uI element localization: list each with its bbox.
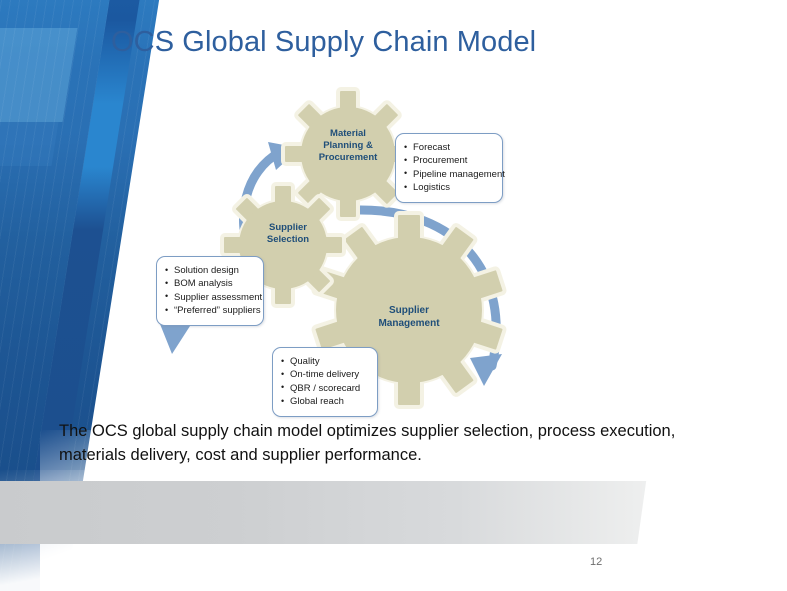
callout-item: Pipeline management xyxy=(404,168,493,181)
callout-list: Solution design BOM analysis Supplier as… xyxy=(165,264,254,318)
slide-caption: The OCS global supply chain model optimi… xyxy=(59,419,679,468)
footer-right-wedge xyxy=(628,440,787,591)
callout-item: Supplier assessment xyxy=(165,291,254,304)
deco-light-block-upper xyxy=(0,28,77,122)
callout-list: Quality On-time delivery QBR / scorecard… xyxy=(281,355,368,409)
deco-light-block-lower xyxy=(0,122,58,166)
callout-item: Solution design xyxy=(165,264,254,277)
gear-label-supplier-selection: Supplier Selection xyxy=(243,222,333,246)
callout-list: Forecast Procurement Pipeline management… xyxy=(404,141,493,195)
page-number: 12 xyxy=(590,556,602,568)
callout-supplier-management: Quality On-time delivery QBR / scorecard… xyxy=(272,347,378,417)
callout-item: Global reach xyxy=(281,395,368,408)
callout-item: Procurement xyxy=(404,154,493,167)
callout-item: BOM analysis xyxy=(165,277,254,290)
callout-item: Quality xyxy=(281,355,368,368)
callout-material-planning: Forecast Procurement Pipeline management… xyxy=(395,133,503,203)
gear-label-supplier-management: Supplier Management xyxy=(355,305,463,330)
callout-item: “Preferred” suppliers xyxy=(165,304,254,317)
callout-item: QBR / scorecard xyxy=(281,382,368,395)
callout-item: Forecast xyxy=(404,141,493,154)
callout-item: Logistics xyxy=(404,181,493,194)
gear-label-material-planning: Material Planning & Procurement xyxy=(300,128,396,164)
callout-supplier-selection: Solution design BOM analysis Supplier as… xyxy=(156,256,264,326)
slide: OCS Global Supply Chain Model xyxy=(0,0,787,591)
page-title: OCS Global Supply Chain Model xyxy=(111,26,536,59)
callout-item: On-time delivery xyxy=(281,368,368,381)
